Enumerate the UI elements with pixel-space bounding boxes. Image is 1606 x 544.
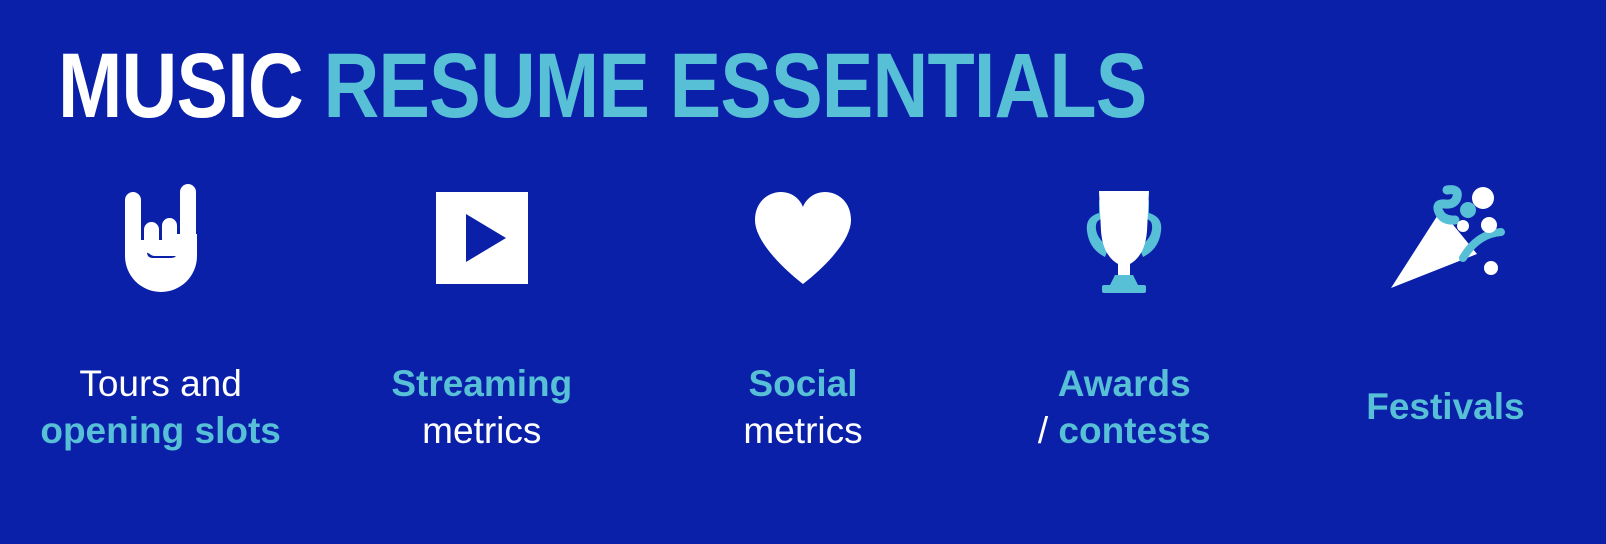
list-item-label: Streaming metrics: [391, 360, 572, 454]
list-item-awards: Awards / contests: [964, 168, 1285, 508]
label-line-2: opening slots: [40, 407, 281, 454]
trophy-icon: [1069, 168, 1179, 308]
label-line-2: / contests: [1038, 407, 1211, 454]
list-item-label: Awards / contests: [1038, 360, 1211, 454]
list-item-label: Festivals: [1366, 383, 1524, 430]
label-line-2-text: contests: [1058, 410, 1210, 451]
label-line-1: Tours and: [40, 360, 281, 407]
label-line-1: Awards: [1038, 360, 1211, 407]
label-line-1: Social: [743, 360, 862, 407]
page-title: MUSIC RESUME ESSENTIALS: [58, 40, 1147, 132]
label-line-1: Festivals: [1366, 383, 1524, 430]
list-item-tours: Tours and opening slots: [0, 168, 321, 508]
label-line-2: metrics: [743, 407, 862, 454]
essentials-list: Tours and opening slots Streaming metric…: [0, 168, 1606, 508]
label-line-2-separator: /: [1038, 410, 1059, 451]
music-resume-essentials-banner: MUSIC RESUME ESSENTIALS: [0, 0, 1606, 544]
party-popper-icon: [1385, 168, 1505, 308]
list-item-label: Social metrics: [743, 360, 862, 454]
page-title-secondary: RESUME ESSENTIALS: [303, 35, 1147, 137]
label-line-1: Streaming: [391, 360, 572, 407]
list-item-label: Tours and opening slots: [40, 360, 281, 454]
page-title-primary: MUSIC: [58, 35, 303, 137]
rock-on-hand-icon: [111, 168, 211, 308]
list-item-festivals: Festivals: [1285, 168, 1606, 508]
heart-icon: [751, 168, 855, 308]
list-item-streaming: Streaming metrics: [321, 168, 642, 508]
label-line-2: metrics: [391, 407, 572, 454]
play-button-icon: [436, 168, 528, 308]
list-item-social: Social metrics: [642, 168, 963, 508]
